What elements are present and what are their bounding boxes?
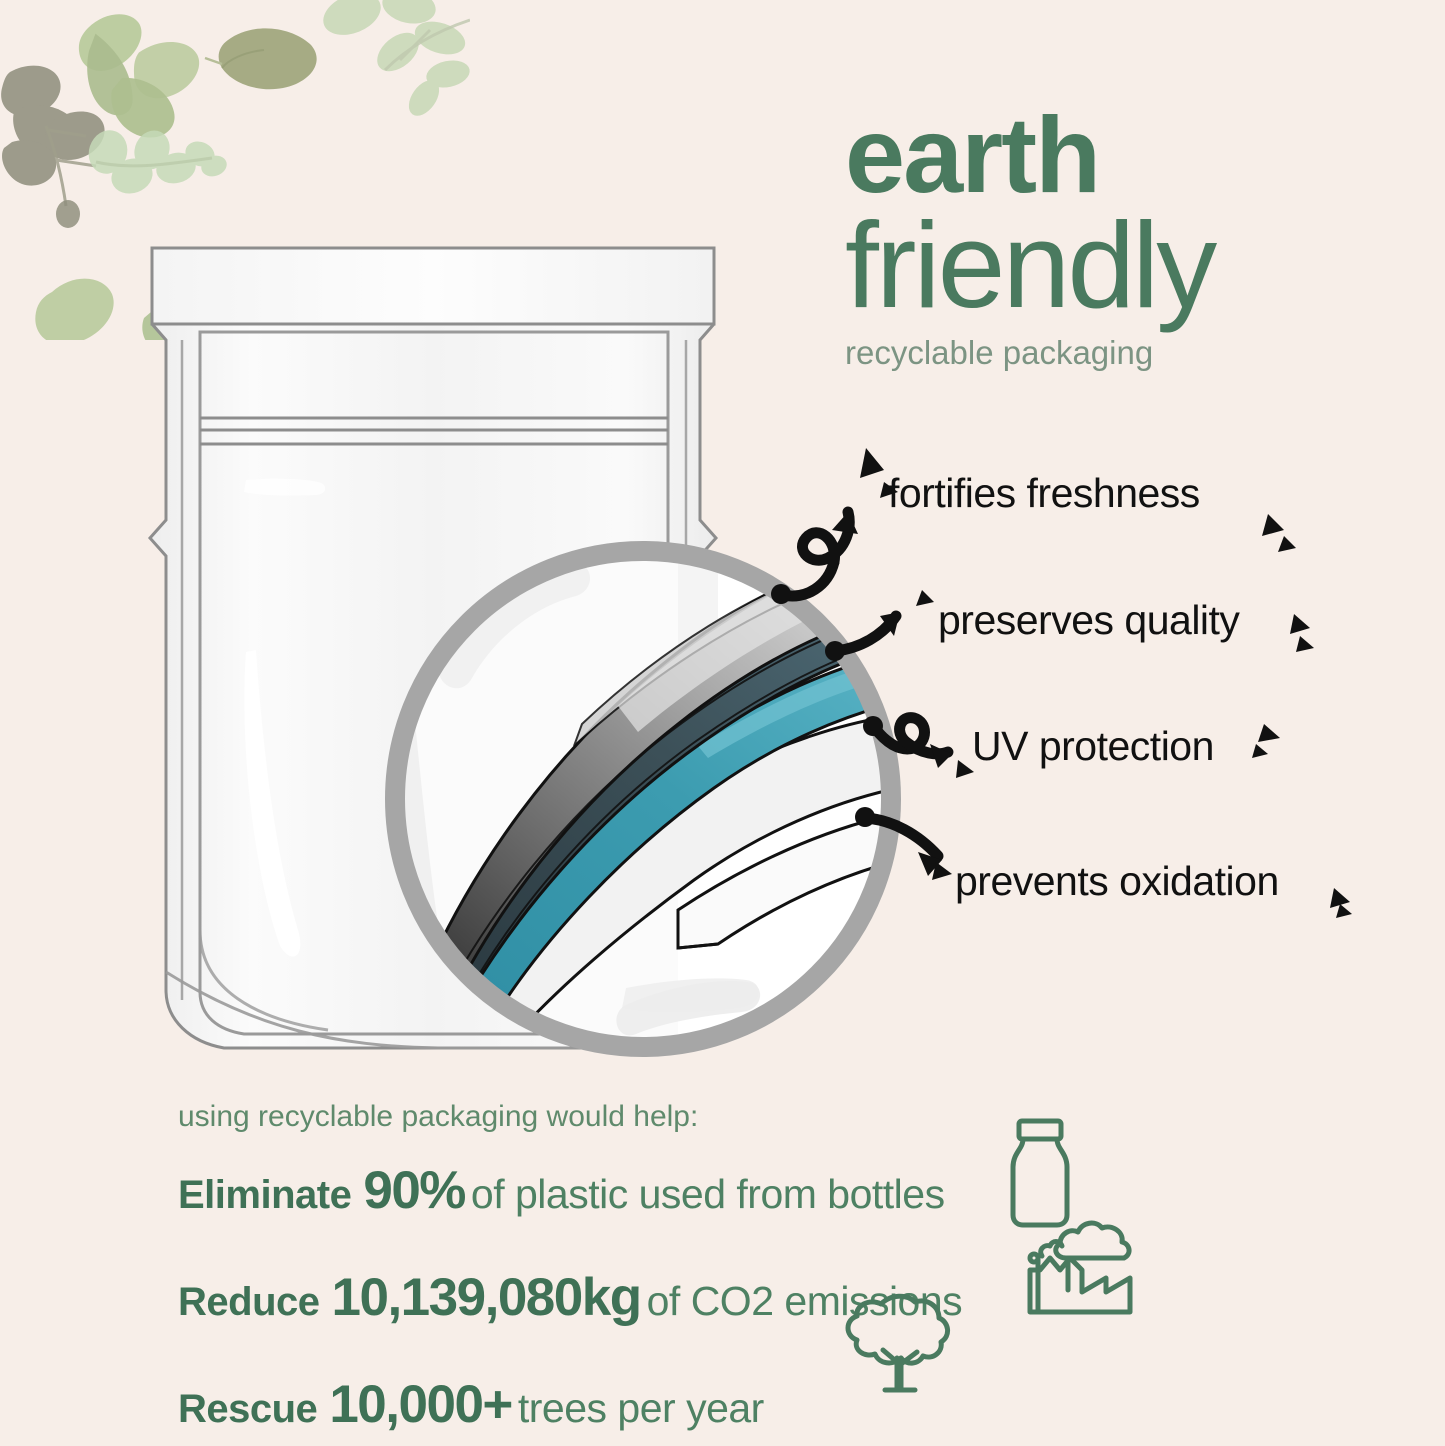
feature-label-uv-protection: UV protection: [972, 723, 1214, 770]
stat-verb: Eliminate: [178, 1173, 351, 1218]
tree-icon: [835, 1288, 953, 1404]
sparkle-marks: [860, 448, 1352, 918]
stat-verb: Reduce: [178, 1280, 320, 1325]
headline-line-1: earth: [845, 105, 1405, 204]
headline-block: earth friendly recyclable packaging: [845, 105, 1405, 372]
stat-number: 10,000+: [329, 1374, 512, 1435]
magnified-film-layers-cross-section: [378, 518, 908, 1080]
factory-icon: [1020, 1212, 1140, 1320]
stat-number: 10,139,080kg: [332, 1267, 641, 1328]
infographic-canvas: earth friendly recyclable packaging: [0, 0, 1445, 1446]
stat-number: 90%: [363, 1160, 465, 1221]
feature-label-fortifies-freshness: fortifies freshness: [888, 470, 1200, 517]
headline-subtitle: recyclable packaging: [845, 334, 1405, 372]
feature-label-prevents-oxidation: prevents oxidation: [955, 858, 1279, 905]
feature-label-preserves-quality: preserves quality: [938, 597, 1239, 644]
headline-line-2: friendly: [845, 208, 1405, 324]
stat-row-rescue: Rescue 10,000+ trees per year: [178, 1374, 1278, 1435]
stats-lead-text: using recyclable packaging would help:: [178, 1100, 1278, 1134]
stat-tail: of plastic used from bottles: [471, 1171, 945, 1218]
stat-verb: Rescue: [178, 1387, 317, 1432]
stat-tail: trees per year: [518, 1385, 764, 1432]
